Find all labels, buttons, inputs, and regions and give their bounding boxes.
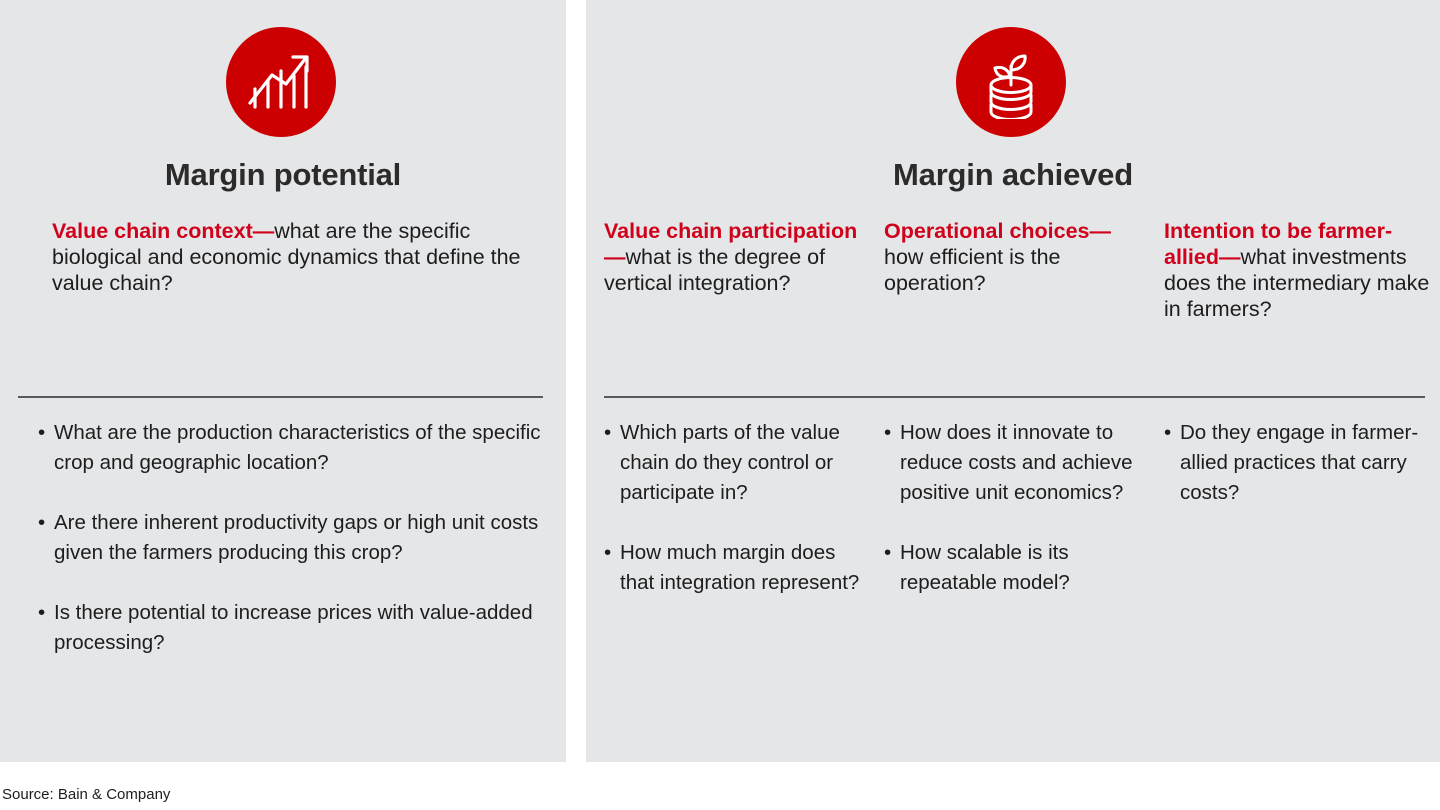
bullet-column-value-chain-participation: Which parts of the value chain do they c… <box>604 418 884 598</box>
bullet-column-value-chain-context: What are the production characteristics … <box>38 418 548 658</box>
bullet-column-intention-farmer-allied: Do they engage in farmer-allied practice… <box>1164 418 1430 598</box>
list-item: Are there inherent productivity gaps or … <box>38 508 548 568</box>
column-heading: Value chain context—what are the specifi… <box>52 218 552 296</box>
panel-margin-potential: Margin potential Value chain context—wha… <box>0 0 566 762</box>
panel-margin-achieved: Margin achieved Value chain participatio… <box>586 0 1440 762</box>
section-divider <box>604 396 1425 398</box>
column-heading: Value chain participation—what is the de… <box>604 218 862 296</box>
column-intention-farmer-allied: Intention to be farmer-allied—what inves… <box>1164 218 1430 322</box>
bullet-list: Do they engage in farmer-allied practice… <box>1164 418 1430 508</box>
bullet-columns-right: Which parts of the value chain do they c… <box>604 418 1430 598</box>
list-item: How scalable is its repeatable model? <box>884 538 1142 598</box>
infographic-board: Margin potential Value chain context—wha… <box>0 0 1440 810</box>
source-note: Source: Bain & Company <box>2 786 170 803</box>
column-question: how efficient is the operation? <box>884 245 1060 295</box>
list-item: Is there potential to increase prices wi… <box>38 598 548 658</box>
column-value-chain-context: Value chain context—what are the specifi… <box>52 218 552 296</box>
column-lead: Operational choices— <box>884 219 1111 243</box>
bullet-column-operational-choices: How does it innovate to reduce costs and… <box>884 418 1164 598</box>
column-question: what is the degree of vertical integrati… <box>604 245 825 295</box>
column-value-chain-participation: Value chain participation—what is the de… <box>604 218 884 322</box>
list-item: How does it innovate to reduce costs and… <box>884 418 1142 508</box>
list-item: How much margin does that integration re… <box>604 538 862 598</box>
list-item: Do they engage in farmer-allied practice… <box>1164 418 1430 508</box>
column-operational-choices: Operational choices—how efficient is the… <box>884 218 1164 322</box>
plant-coins-icon <box>956 27 1066 137</box>
column-heading: Intention to be farmer-allied—what inves… <box>1164 218 1430 322</box>
column-heading: Operational choices—how efficient is the… <box>884 218 1142 296</box>
bullet-list: How does it innovate to reduce costs and… <box>884 418 1142 598</box>
heading-columns-right: Value chain participation—what is the de… <box>604 218 1430 322</box>
bullet-list: Which parts of the value chain do they c… <box>604 418 862 598</box>
column-lead: Value chain context— <box>52 219 274 243</box>
page-title-margin-achieved: Margin achieved <box>586 157 1440 193</box>
bullet-list: What are the production characteristics … <box>38 418 548 658</box>
heading-columns-left: Value chain context—what are the specifi… <box>52 218 552 296</box>
list-item: Which parts of the value chain do they c… <box>604 418 862 508</box>
section-divider <box>18 396 543 398</box>
list-item: What are the production characteristics … <box>38 418 548 478</box>
growth-chart-icon <box>226 27 336 137</box>
page-title-margin-potential: Margin potential <box>0 157 566 193</box>
bullet-columns-left: What are the production characteristics … <box>38 418 548 658</box>
